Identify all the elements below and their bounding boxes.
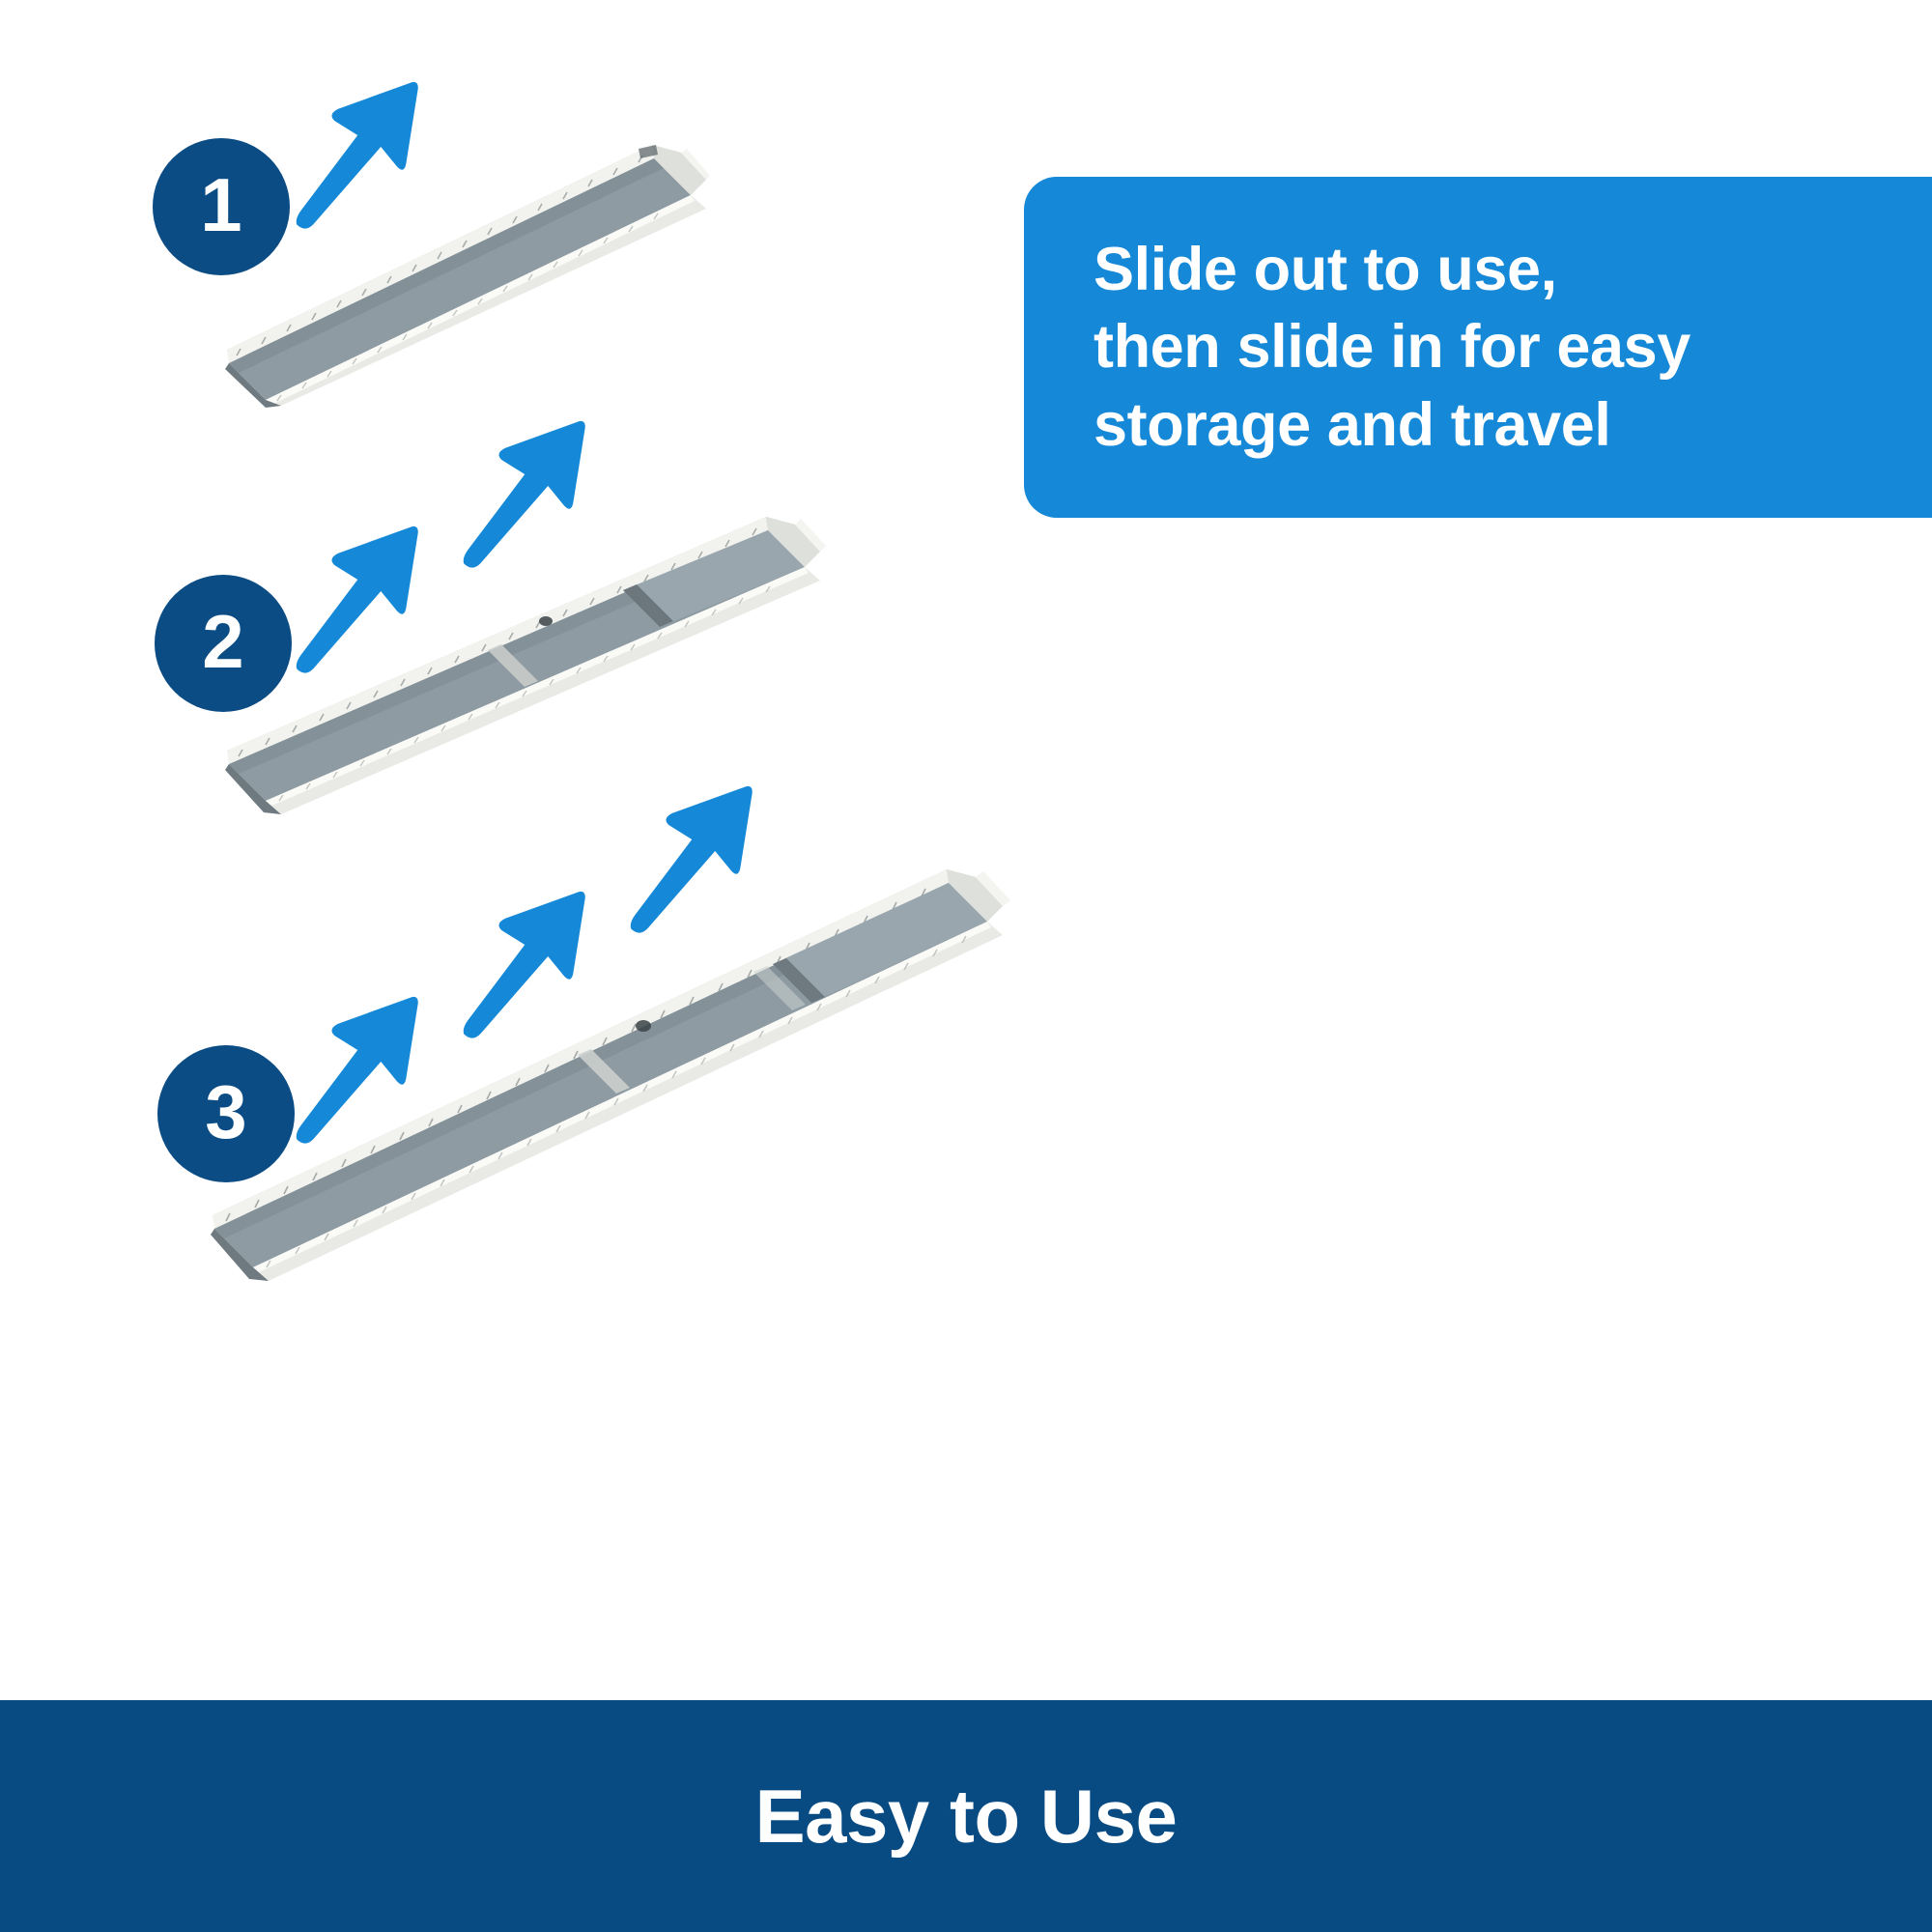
bottom-banner: Easy to Use [0,1700,1932,1932]
banner-title: Easy to Use [755,1773,1178,1861]
step-1-ramp [169,126,710,406]
callout-text: Slide out to use, then slide in for easy… [1094,231,1888,465]
infographic-canvas: 1 [0,0,1932,1932]
step-3-ramp [174,850,1024,1285]
callout-bubble: Slide out to use, then slide in for easy… [1024,177,1932,518]
